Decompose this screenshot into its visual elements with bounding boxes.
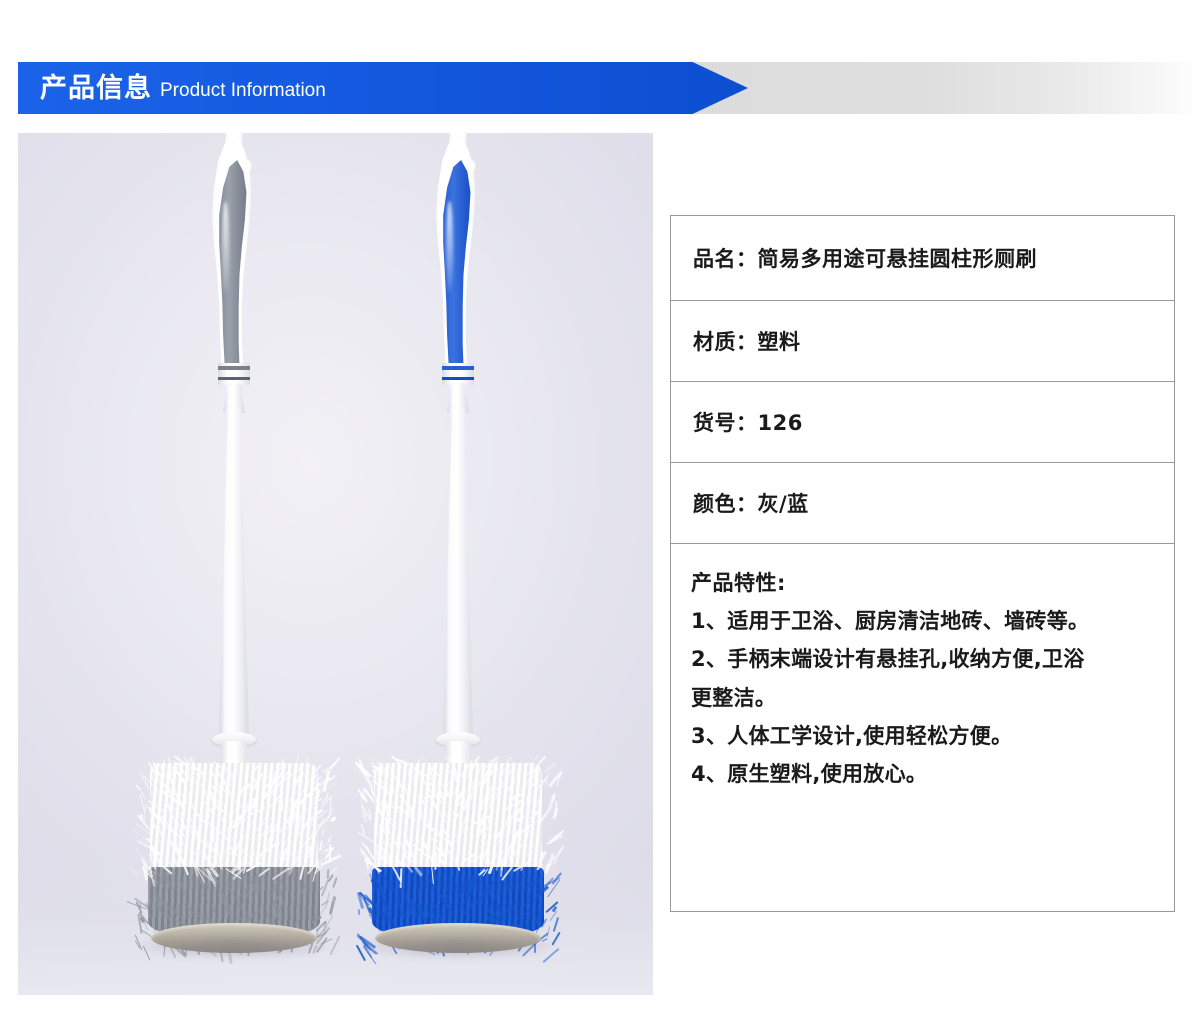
spec-row-product-name: 品名：简易多用途可悬挂圆柱形厕刷 (671, 216, 1174, 301)
spec-row-color: 颜色：灰/蓝 (671, 463, 1174, 544)
gray-hanging-hole (243, 160, 251, 172)
product-spec-table: 品名：简易多用途可悬挂圆柱形厕刷 材质：塑料 货号：126 颜色：灰/蓝 产品特… (670, 215, 1175, 912)
gray-bristle-head (148, 763, 320, 941)
blue-toilet-brush (358, 133, 558, 953)
feature-item-1: 1、适用于卫浴、厨房清洁地砖、墙砖等。 (691, 602, 1158, 640)
blue-brush-shadow (363, 933, 553, 959)
spec-row-item-number: 货号：126 (671, 382, 1174, 463)
blue-shaft (443, 409, 473, 739)
header-title-group: 产品信息 Product Information (40, 62, 326, 114)
blue-bristle-head (372, 763, 544, 941)
page-header-banner: 产品信息 Product Information (0, 62, 1200, 114)
blue-handle (419, 137, 497, 367)
blue-hanging-hole (467, 160, 475, 172)
features-heading: 产品特性: (691, 564, 1158, 602)
spec-row-features: 产品特性: 1、适用于卫浴、厨房清洁地砖、墙砖等。 2、手柄末端设计有悬挂孔,收… (671, 544, 1174, 911)
blue-handle-highlight (446, 201, 453, 293)
blue-grip-ring-line-top (442, 366, 474, 370)
gray-brush-shadow (139, 933, 329, 959)
blue-grip-ring-line-bottom (442, 377, 474, 380)
product-photo (18, 133, 653, 995)
feature-item-2: 2、手柄末端设计有悬挂孔,收纳方便,卫浴 (691, 640, 1158, 678)
blue-grip-ring (442, 363, 474, 385)
feature-item-4: 4、原生塑料,使用放心。 (691, 755, 1158, 793)
page-title-english: Product Information (160, 81, 326, 100)
gray-grip-ring-line-bottom (218, 377, 250, 380)
spec-row-material: 材质：塑料 (671, 301, 1174, 382)
blue-shaft-taper (447, 383, 469, 413)
blue-bristles-white (374, 763, 542, 875)
gray-bristles-white (150, 763, 318, 875)
feature-item-3: 3、人体工学设计,使用轻松方便。 (691, 717, 1158, 755)
gray-handle (195, 137, 273, 367)
gray-grip-ring (218, 363, 250, 385)
gray-grip-ring-line-top (218, 366, 250, 370)
feature-item-2-cont: 更整洁。 (691, 679, 1158, 717)
gray-shaft-taper (223, 383, 245, 413)
gray-shaft (219, 409, 249, 739)
gray-handle-grip (195, 137, 273, 367)
gray-handle-highlight (222, 201, 229, 293)
header-gray-ribbon (690, 62, 1200, 114)
gray-toilet-brush (134, 133, 334, 953)
blue-handle-grip (419, 137, 497, 367)
page-title-chinese: 产品信息 (40, 75, 152, 102)
